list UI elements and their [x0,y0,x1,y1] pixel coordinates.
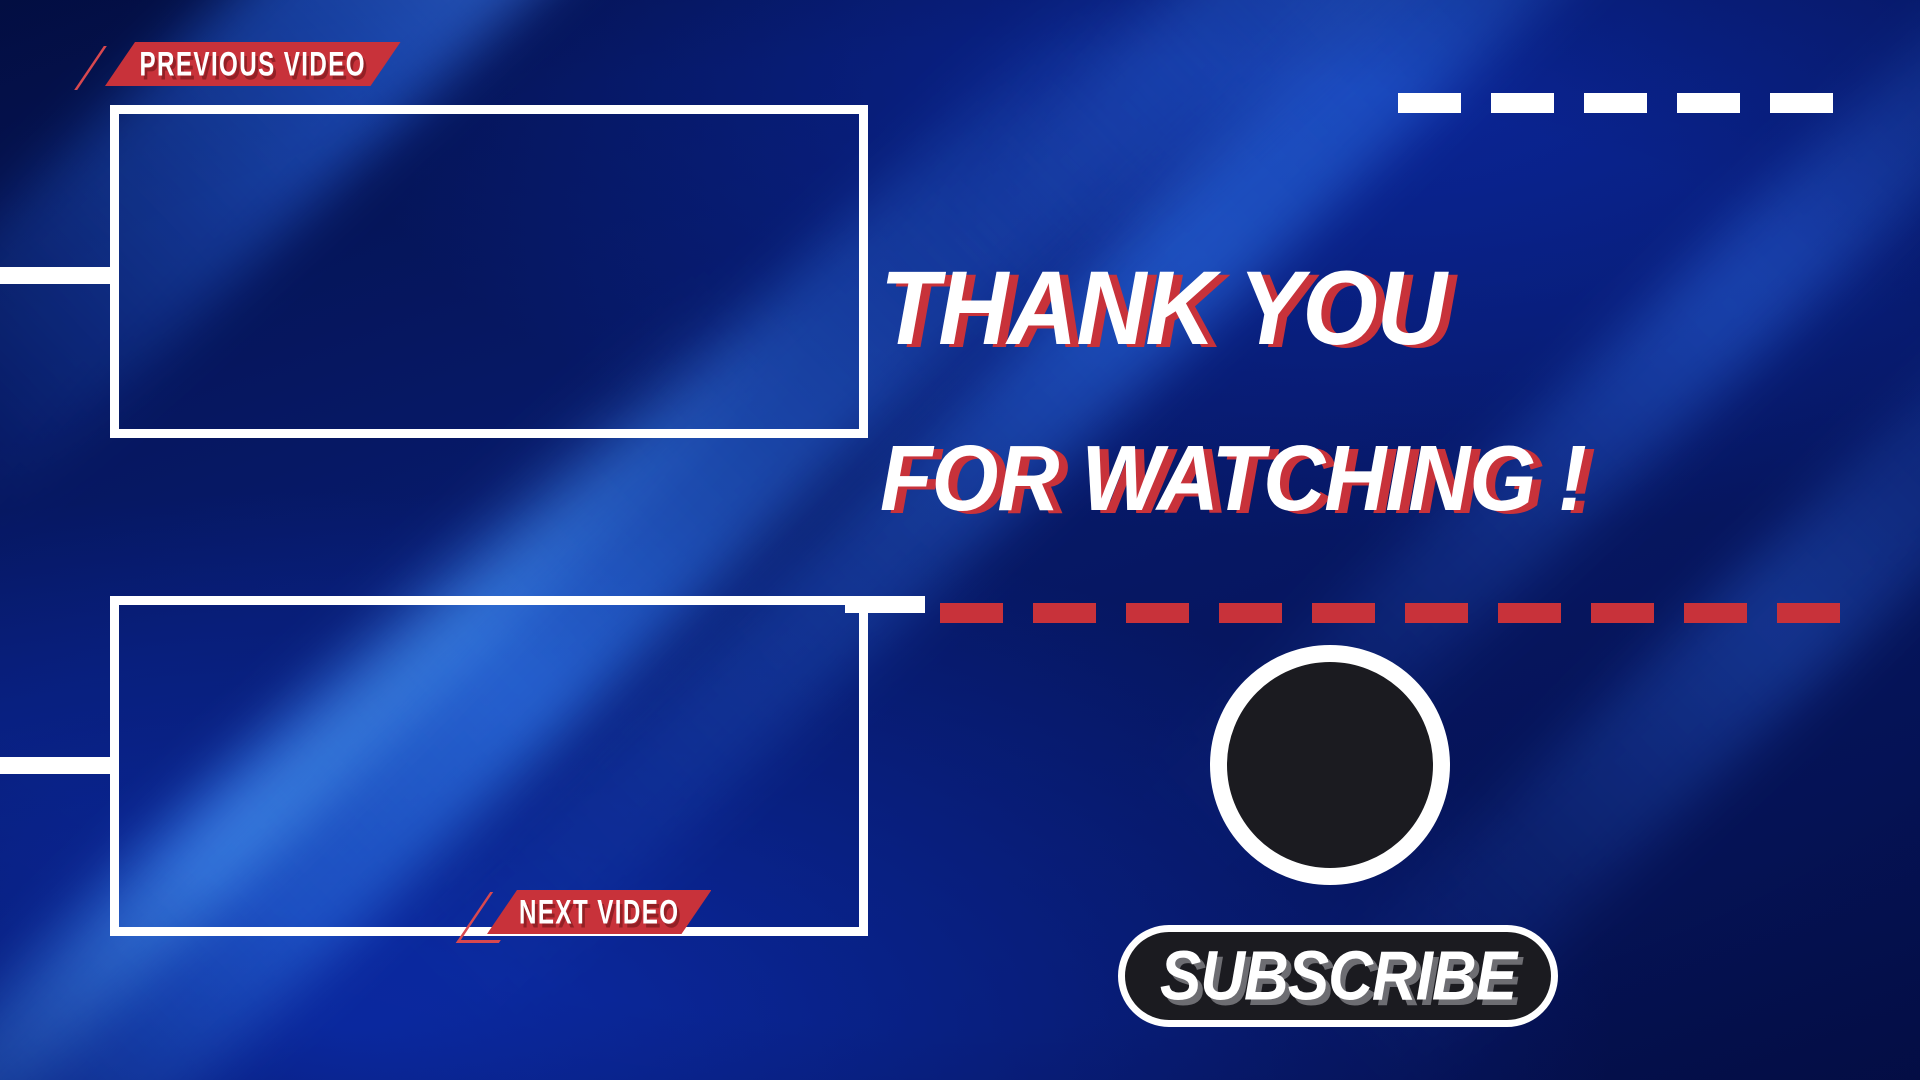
thank-you-headline: THANK YOU THANK YOU FOR WATCHING ! FOR W… [880,248,1780,530]
next-video-connector-bar [0,757,118,774]
subscribe-button-label: SUBSCRIBE [1160,936,1516,1016]
dash-segment [1033,603,1096,623]
headline-line-1-text: THANK YOU [880,248,1446,369]
dash-segment [940,603,1003,623]
dash-segment [1398,93,1461,113]
dash-segment [1491,93,1554,113]
ribbon-body: PREVIOUS VIDEO [105,42,401,86]
dash-segment [1777,603,1840,623]
dash-segment [1677,93,1740,113]
headline-line-2-text: FOR WATCHING ! [880,418,1586,539]
dash-segment [1584,93,1647,113]
next-video-label: NEXT VIDEO [519,892,679,933]
previous-video-thumbnail-frame[interactable] [110,105,868,438]
next-video-thumbnail-frame[interactable] [110,596,868,936]
dash-segment [1126,603,1189,623]
red-dashed-rule [940,603,1870,623]
next-video-ribbon[interactable]: NEXT VIDEO [487,890,711,934]
previous-video-ribbon[interactable]: PREVIOUS VIDEO [105,42,401,86]
dash-segment [1684,603,1747,623]
end-screen-canvas: PREVIOUS VIDEO NEXT VIDEO THANK YOU THAN… [0,0,1920,1080]
headline-line-2: FOR WATCHING ! FOR WATCHING ! [880,418,1780,530]
dash-segment [1312,603,1375,623]
headline-line-1: THANK YOU THANK YOU [880,248,1780,360]
dash-segment [1770,93,1833,113]
subscribe-button[interactable]: SUBSCRIBE [1118,925,1558,1027]
white-dashed-rule [1398,93,1863,113]
previous-video-connector-bar [0,267,118,284]
channel-avatar-placeholder[interactable] [1210,645,1450,885]
dash-segment [1405,603,1468,623]
ribbon-body: NEXT VIDEO [487,890,711,934]
dash-segment [1591,603,1654,623]
dash-segment [1498,603,1561,623]
previous-video-label: PREVIOUS VIDEO [140,44,366,85]
dash-segment [1219,603,1282,623]
